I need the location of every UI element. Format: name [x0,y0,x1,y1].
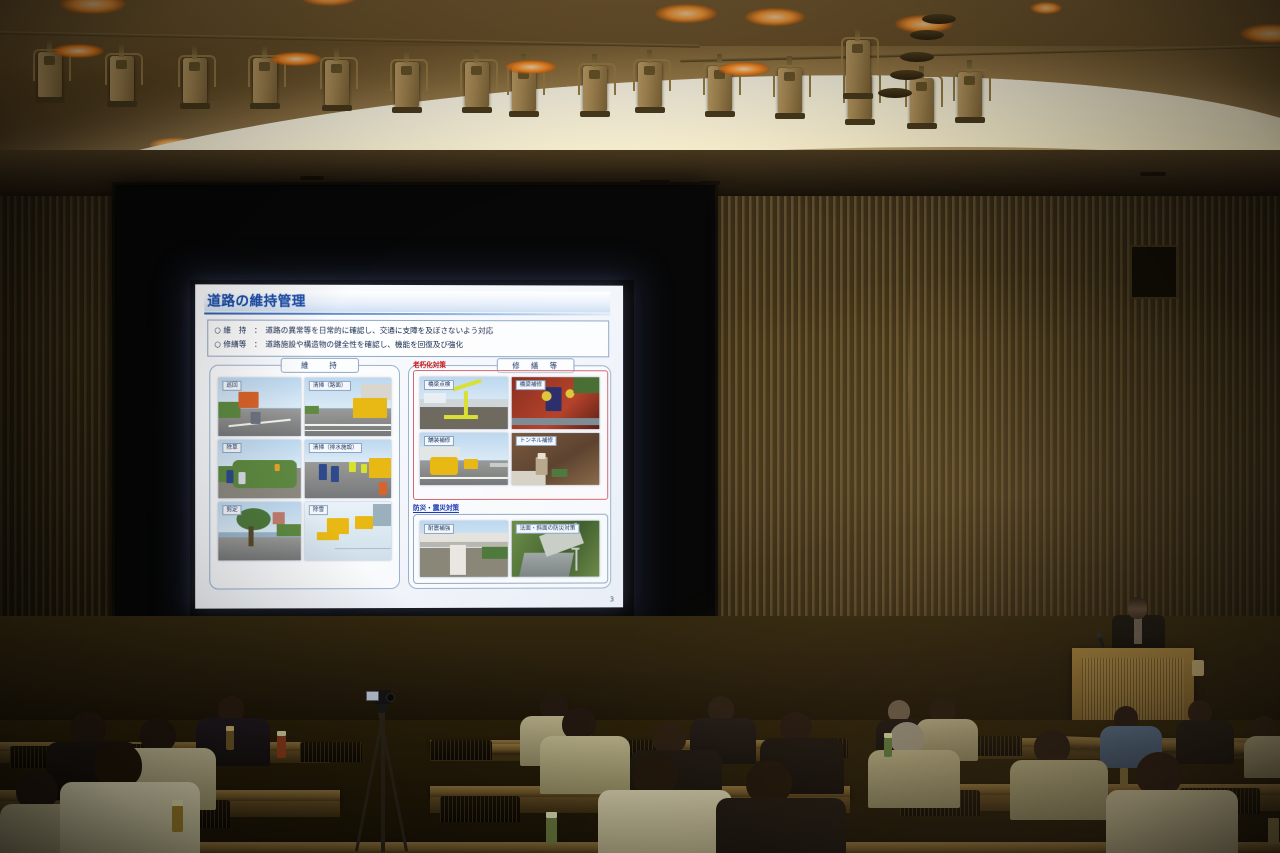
head [70,712,106,746]
drink-bottle [1268,818,1279,844]
stage-spotlight [638,62,662,108]
camera-lens-icon [386,693,395,702]
microphone-head [1096,632,1102,638]
torso [1106,790,1238,853]
photo-caption: 舗装補修 [424,436,454,446]
audience-chair [300,742,362,762]
photo-caption: 法面・斜面の防災対策 [516,524,580,534]
speaker-head [1128,597,1147,619]
spotlight-glow [52,44,104,58]
stage-spotlight [958,72,982,118]
photo-caption: 橋梁点検 [424,380,454,390]
presentation-slide: 道路の維持管理 ○ 維 持 ： 道路の異常等を日常的に確認し、交通に支障を及ぼさ… [195,284,623,608]
stage-spotlight [846,40,870,94]
torso [868,750,960,808]
spotlight-underside [878,88,912,98]
stage-spotlight [465,62,489,108]
drink-bottle [226,730,234,750]
photo-caption: 耐震補強 [424,524,454,534]
stage-spotlight [110,56,134,102]
lecture-hall-photo: 道路の維持管理 ○ 維 持 ： 道路の異常等を日常的に確認し、交通に支障を及ぼさ… [0,0,1280,853]
spotlight-glow [270,52,322,66]
drink-bottle [277,736,286,758]
spotlight-glow [505,60,557,74]
panel-maintenance-tag: 維 持 [281,358,359,373]
head [140,718,176,752]
speaker-shirt [1134,618,1142,644]
spotlight-glow [718,62,770,76]
slide-bullet-2: ○ 修繕等 ： 道路施設や構造物の健全性を確認し、機能を回復及び強化 [214,341,463,349]
wall-seam [908,290,910,470]
drink-bottle [884,738,892,757]
photo-caption: 清掃（排水施設） [309,443,362,453]
downlight [745,8,805,26]
stage-spotlight [253,58,277,104]
stage-spotlight [183,58,207,104]
slide-page-number: 3 [610,595,614,603]
stage-spotlight [583,66,607,112]
downlight [655,4,717,23]
soffit-vent [300,176,324,180]
spotlight-underside [910,30,944,40]
podium-lamp [1192,660,1204,676]
label-aging-countermeasures: 老朽化対策 [413,359,446,369]
drink-bottle [546,818,557,844]
drink-bottle [1120,768,1128,786]
stage-spotlight [325,60,349,106]
stage-spotlight [778,68,802,114]
audience-chair [430,740,492,760]
group-aging-box: 橋梁点検 橋梁補修 [413,370,608,500]
photo-caption: 巡回 [222,381,241,391]
group-disaster-box: 耐震補強 法面・斜面の防災対策 [413,514,608,584]
panel-maintenance: 維 持 巡回 清掃（路面） [209,365,400,590]
photo-caption: 除草 [222,443,241,453]
panel-repair: 修 繕 等 老朽化対策 橋梁点検 [408,365,611,589]
slide-bullet-1: ○ 維 持 ： 道路の異常等を日常的に確認し、交通に支障を及ぼさないよう対応 [214,327,493,335]
photo-caption: 剪定 [222,505,241,515]
torso [716,798,846,853]
torso [1244,736,1280,778]
camera-lcd-screen [366,691,379,701]
downlight [1030,2,1062,14]
photo-caption: トンネル補修 [516,436,557,446]
torso [1176,720,1234,764]
photo-caption: 清掃（路面） [309,381,351,391]
head [1034,730,1070,764]
photo-caption: 除雪 [309,505,328,515]
stage-spotlight [395,62,419,108]
torso [1010,760,1108,820]
slide-title: 道路の維持管理 [207,289,306,309]
wall-vent-grille [1130,245,1178,299]
bottle-cap [546,812,557,818]
soffit-vent [1140,172,1166,176]
photo-caption: 橋梁補修 [516,380,546,390]
slide-title-rule [204,312,610,315]
bottle-cap [172,800,183,806]
drink-bottle [172,806,183,832]
spotlight-underside [890,70,924,80]
spotlight-underside [922,14,956,24]
spotlight-underside [900,52,934,62]
bottle-cap [226,726,234,731]
bottle-cap [277,731,286,736]
torso [598,790,732,853]
tripod-leg [381,712,385,852]
slide-bullet-box: ○ 維 持 ： 道路の異常等を日常的に確認し、交通に支障を及ぼさないよう対応 ○… [207,320,609,358]
stage-spotlight [38,52,62,98]
label-disaster-countermeasures: 防災・震災対策 [413,502,459,513]
audience-chair [440,796,520,822]
bottle-cap [884,733,892,738]
torso [540,736,630,794]
stage-spotlight [910,78,934,124]
